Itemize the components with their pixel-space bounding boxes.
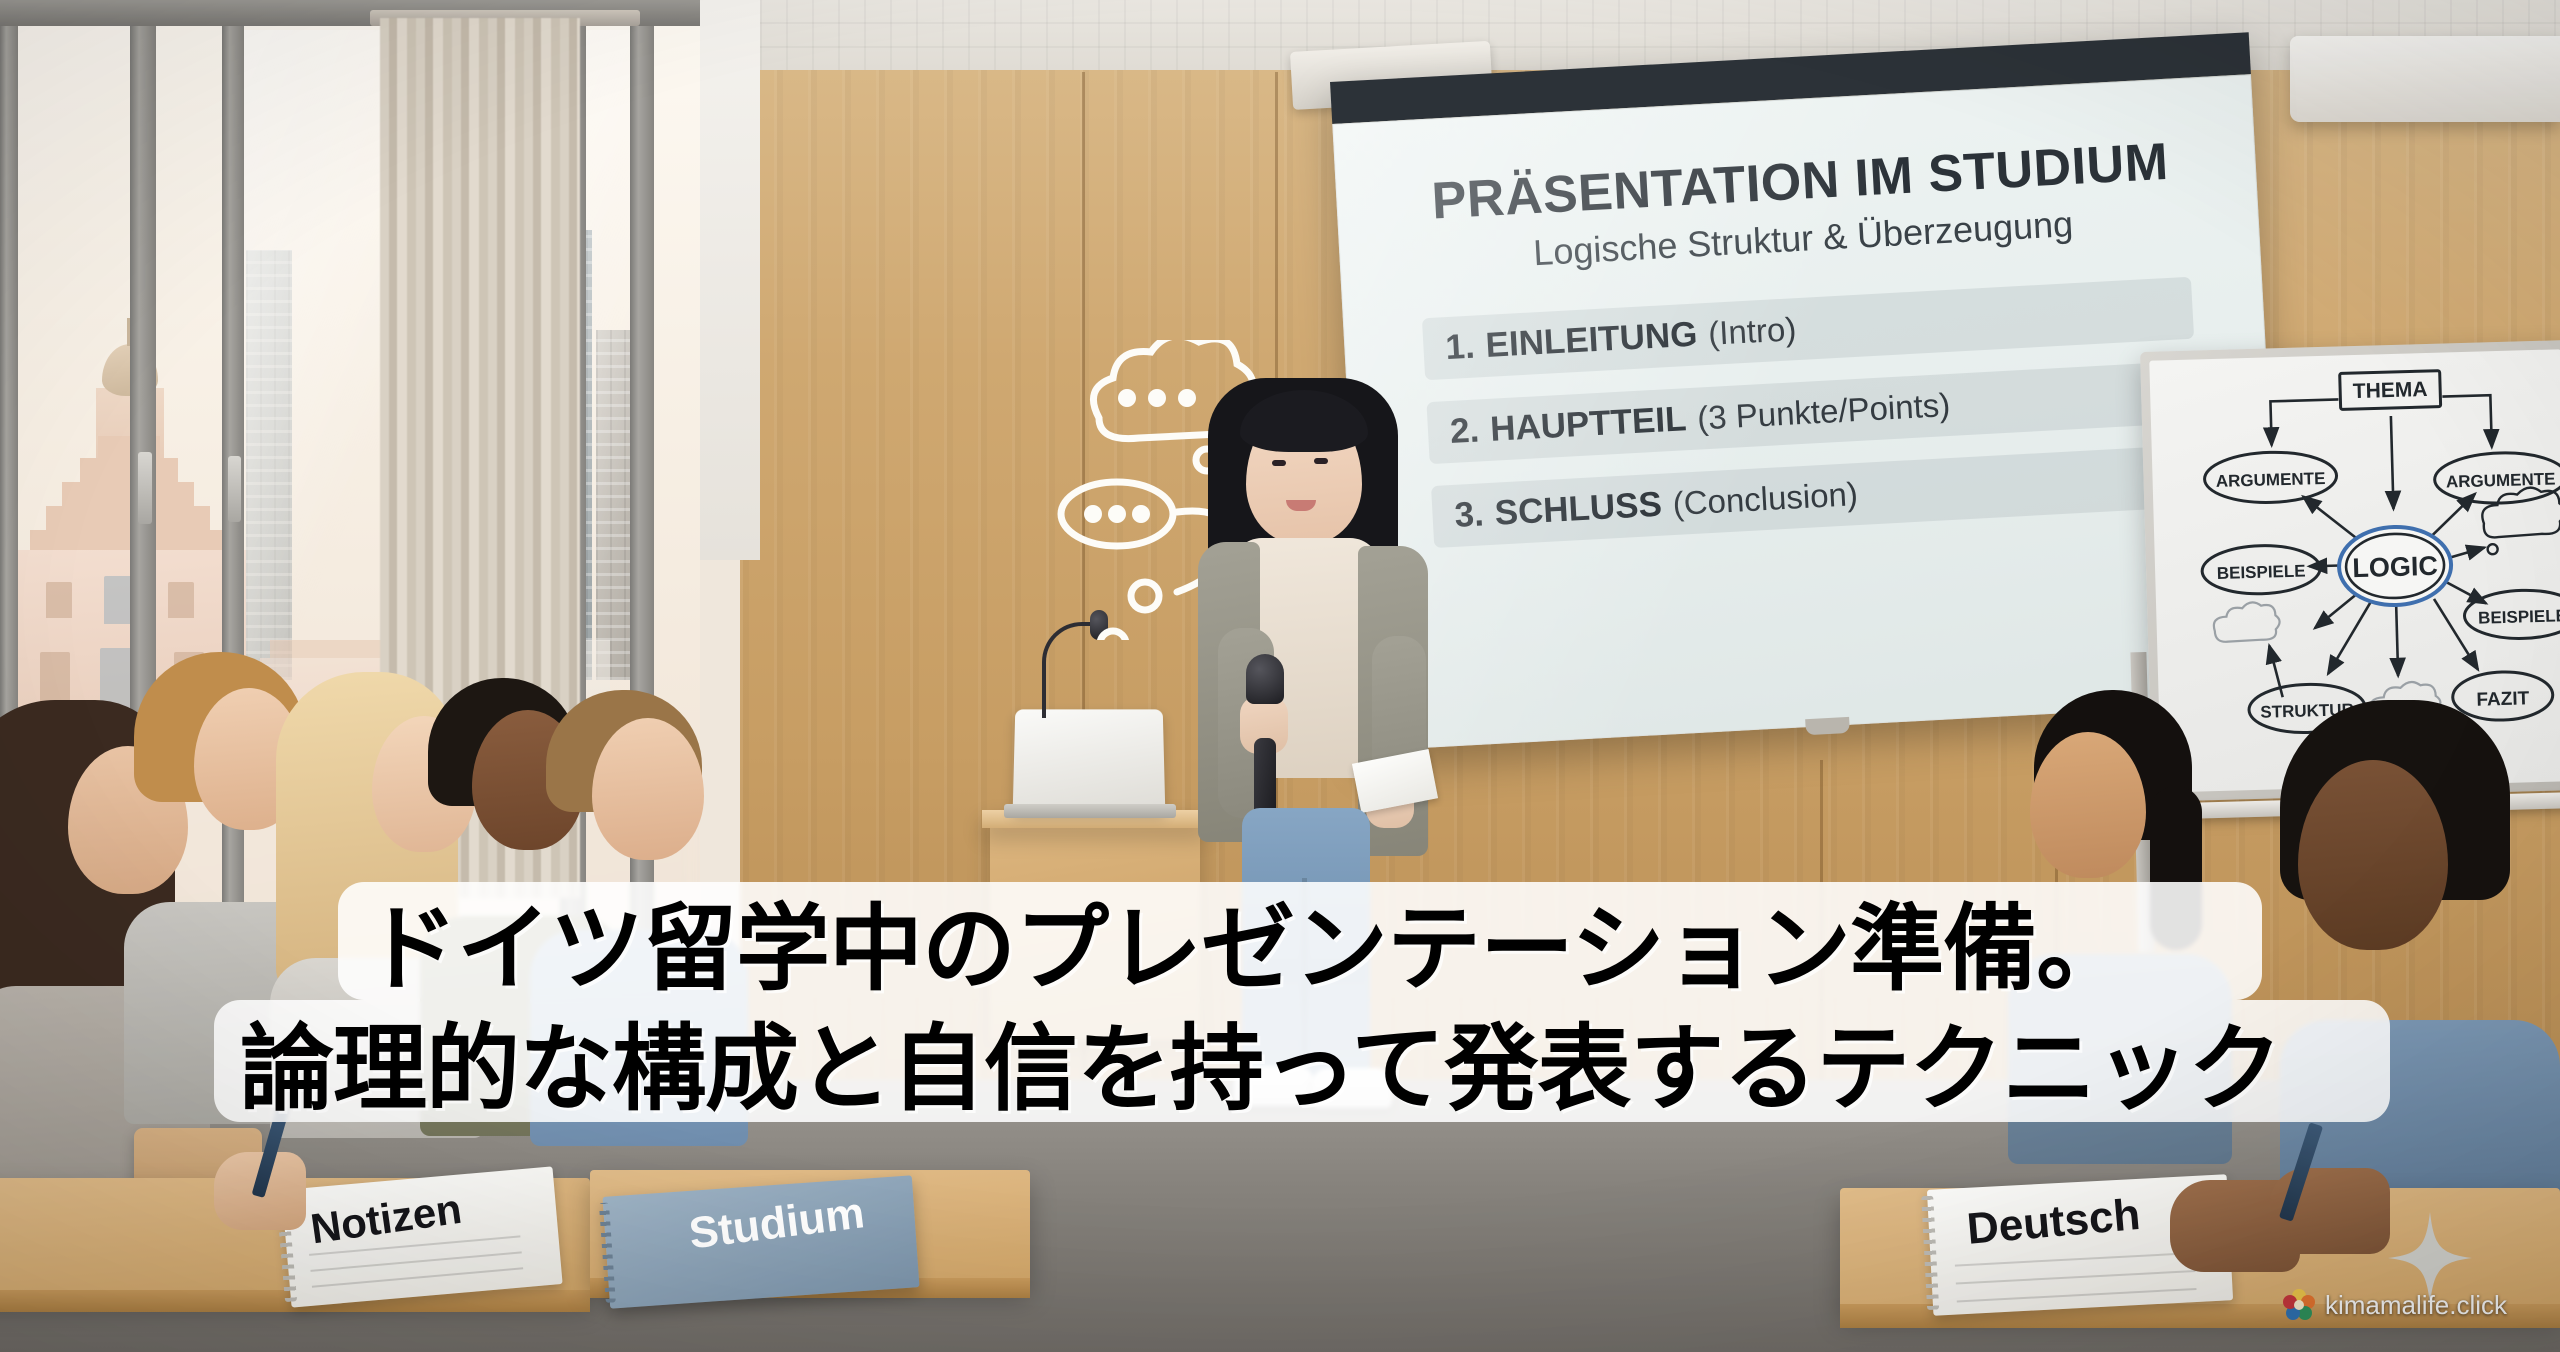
map-node-argumente-left: ARGUMENTE	[2204, 451, 2337, 505]
screen-pull-knob[interactable]	[1805, 717, 1850, 735]
svg-text:ARGUMENTE: ARGUMENTE	[2216, 469, 2326, 491]
svg-text:ARGUMENTE: ARGUMENTE	[2446, 469, 2556, 491]
notepad-label: Deutsch	[1965, 1190, 2142, 1255]
svg-text:BEISPIELE: BEISPIELE	[2217, 561, 2306, 582]
map-node-logic: LOGIC	[2338, 525, 2452, 606]
eye	[1272, 460, 1286, 466]
caption-line2-text: 論理的な構成と自信を持って発表するテクニック	[240, 993, 2281, 1129]
map-node-thema: THEMA	[2340, 371, 2441, 410]
laptop-base	[1004, 804, 1176, 818]
pinwheel-logo-icon	[2282, 1288, 2316, 1322]
studium-book: Studium	[602, 1175, 919, 1308]
window-handle[interactable]	[228, 456, 241, 522]
map-node-beispiele-right: BEISPIELE	[2464, 589, 2560, 640]
book-label: Studium	[686, 1188, 867, 1259]
laptop-screen	[1013, 709, 1166, 812]
eye	[1314, 458, 1328, 464]
svg-text:THEMA: THEMA	[2353, 378, 2428, 403]
window-handle[interactable]	[138, 452, 152, 524]
caption-line1-text: ドイツ留学中のプレゼンテーション準備。	[364, 873, 2129, 1009]
caption-banner-line2: 論理的な構成と自信を持って発表するテクニック	[214, 1000, 2390, 1122]
map-node-beispiele-left: BEISPIELE	[2201, 544, 2320, 595]
caption-banner-line1: ドイツ留学中のプレゼンテーション準備。	[338, 882, 2262, 1000]
notizen-notepad: Notizen	[281, 1166, 562, 1307]
map-node-argumente-right: ARGUMENTE	[2434, 451, 2560, 505]
microphone-head	[1246, 654, 1284, 704]
svg-text:LOGIC: LOGIC	[2352, 551, 2438, 583]
cloud-bubble-right	[2482, 487, 2560, 555]
student-right-front	[2280, 700, 2560, 1200]
air-conditioner	[2290, 36, 2560, 122]
hero-image-canvas: PRÄSENTATION IM STUDIUM Logische Struktu…	[0, 0, 2560, 1352]
watermark-text: kimamalife.click	[2325, 1290, 2507, 1321]
watermark: kimamalife.click	[2282, 1288, 2507, 1322]
svg-text:BEISPIELE: BEISPIELE	[2478, 606, 2560, 627]
cloud-bubble-left	[2213, 602, 2280, 642]
